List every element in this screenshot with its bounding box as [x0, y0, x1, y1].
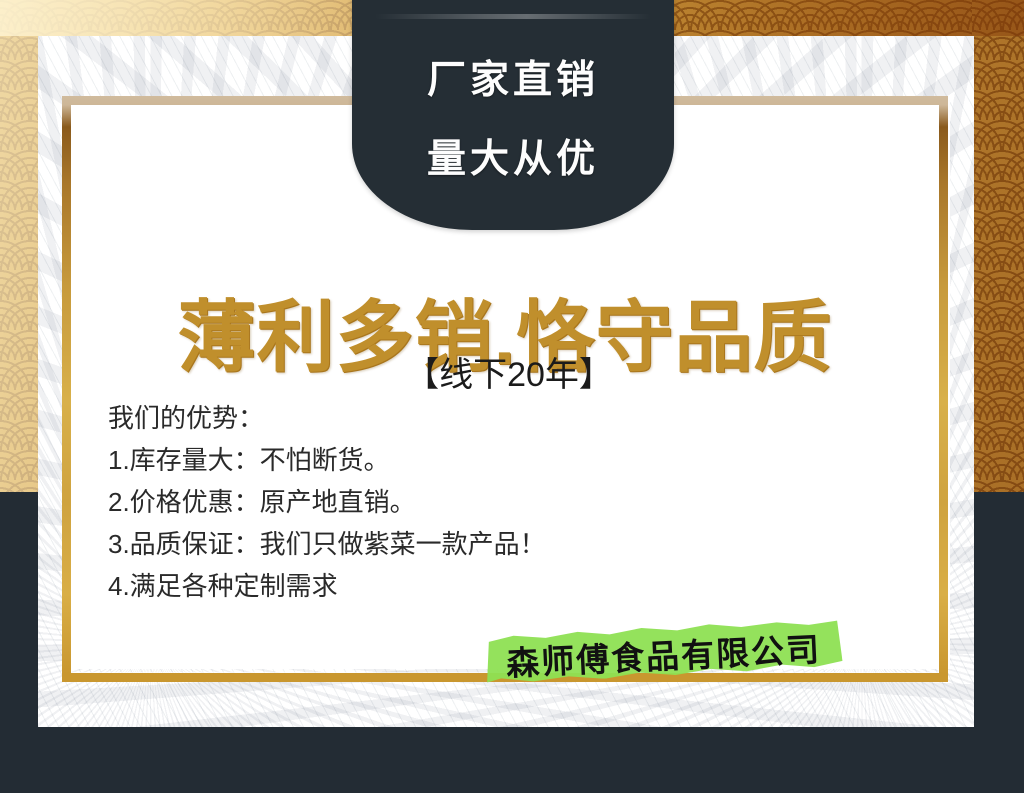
company-name: 森师傅食品有限公司	[499, 617, 828, 692]
badge-line-1: 厂家直销	[427, 61, 599, 100]
dark-block-footer	[0, 727, 1024, 793]
promo-badge: 厂家直销 量大从优	[352, 0, 674, 230]
wave-pattern-left	[0, 0, 42, 494]
subtitle: 【线下20年】	[62, 358, 948, 392]
badge-gloss-highlight	[375, 14, 652, 19]
advantages-list: 我们的优势： 1.库存量大：不怕断货。 2.价格优惠：原产地直销。 3.品质保证…	[108, 404, 546, 600]
wave-pattern-right	[972, 0, 1024, 494]
company-name-stamp: 森师傅食品有限公司	[499, 617, 828, 692]
promo-poster: 薄利多销.恪守品质 【线下20年】 我们的优势： 1.库存量大：不怕断货。 2.…	[0, 0, 1024, 793]
list-item: 1.库存量大：不怕断货。	[108, 446, 546, 474]
list-item: 2.价格优惠：原产地直销。	[108, 488, 546, 516]
list-item: 3.品质保证：我们只做紫菜一款产品！	[108, 530, 546, 558]
badge-line-2: 量大从优	[427, 140, 599, 179]
list-item: 4.满足各种定制需求	[108, 572, 546, 600]
advantages-lead: 我们的优势：	[108, 404, 546, 432]
